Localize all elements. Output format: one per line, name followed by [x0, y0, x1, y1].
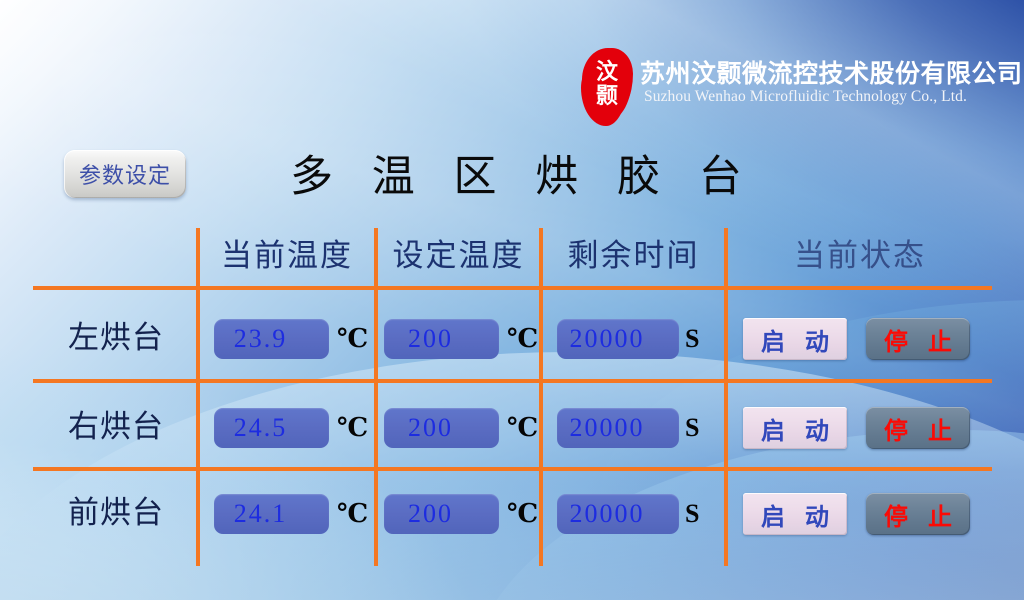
- grid-line-col4: [724, 228, 728, 566]
- grid-line-row1-bottom: [33, 379, 992, 383]
- set-temperature-unit-row3: ℃: [507, 494, 538, 534]
- parameter-setting-button[interactable]: 参数设定: [64, 150, 186, 198]
- stop-button-row2[interactable]: 停 止: [866, 407, 970, 449]
- seal-characters: 汶 颢: [578, 44, 636, 124]
- grid-line-col1: [196, 228, 200, 566]
- set-temperature-value-row1[interactable]: 200: [384, 319, 499, 359]
- row-label-front-station: 前烘台: [40, 488, 192, 538]
- header-remaining-time: 剩余时间: [543, 234, 724, 278]
- grid-line-col2: [374, 228, 378, 566]
- row-label-left-station: 左烘台: [40, 313, 192, 363]
- start-button-row2[interactable]: 启 动: [743, 407, 847, 449]
- remaining-time-value-row1[interactable]: 20000: [557, 319, 679, 359]
- stop-button-row3[interactable]: 停 止: [866, 493, 970, 535]
- company-seal-icon: 汶 颢: [578, 44, 640, 124]
- background-wave-main: [0, 352, 1024, 600]
- remaining-time-unit-row2: S: [685, 408, 699, 448]
- remaining-time-value-row2[interactable]: 20000: [557, 408, 679, 448]
- current-temperature-unit-row1: ℃: [337, 319, 368, 359]
- stop-button-row1[interactable]: 停 止: [866, 318, 970, 360]
- current-temperature-unit-row3: ℃: [337, 494, 368, 534]
- seal-char-bottom: 颢: [596, 85, 618, 107]
- grid-line-header-bottom: [33, 286, 992, 290]
- current-temperature-unit-row2: ℃: [337, 408, 368, 448]
- header-current-temperature: 当前温度: [200, 234, 374, 278]
- seal-char-top: 汶: [596, 61, 618, 83]
- set-temperature-unit-row1: ℃: [507, 319, 538, 359]
- current-temperature-value-row3[interactable]: 24.1: [214, 494, 329, 534]
- company-name-en: Suzhou Wenhao Microfluidic Technology Co…: [644, 88, 967, 106]
- set-temperature-unit-row2: ℃: [507, 408, 538, 448]
- remaining-time-unit-row3: S: [685, 494, 699, 534]
- remaining-time-value-row3[interactable]: 20000: [557, 494, 679, 534]
- remaining-time-unit-row1: S: [685, 319, 699, 359]
- set-temperature-value-row2[interactable]: 200: [384, 408, 499, 448]
- grid-line-col3: [539, 228, 543, 566]
- current-temperature-value-row2[interactable]: 24.5: [214, 408, 329, 448]
- start-button-row3[interactable]: 启 动: [743, 493, 847, 535]
- row-label-right-station: 右烘台: [40, 402, 192, 452]
- start-button-row1[interactable]: 启 动: [743, 318, 847, 360]
- header-current-status: 当前状态: [728, 234, 992, 278]
- company-logo-block: 汶 颢 苏州汶颢微流控技术股份有限公司 Suzhou Wenhao Microf…: [578, 42, 998, 128]
- set-temperature-value-row3[interactable]: 200: [384, 494, 499, 534]
- hmi-screen: 汶 颢 苏州汶颢微流控技术股份有限公司 Suzhou Wenhao Microf…: [0, 0, 1024, 600]
- current-temperature-value-row1[interactable]: 23.9: [214, 319, 329, 359]
- company-name-cn: 苏州汶颢微流控技术股份有限公司: [640, 54, 1023, 90]
- header-set-temperature: 设定温度: [378, 234, 539, 278]
- grid-line-row2-bottom: [33, 467, 992, 471]
- page-title: 多 温 区 烘 胶 台: [290, 142, 740, 204]
